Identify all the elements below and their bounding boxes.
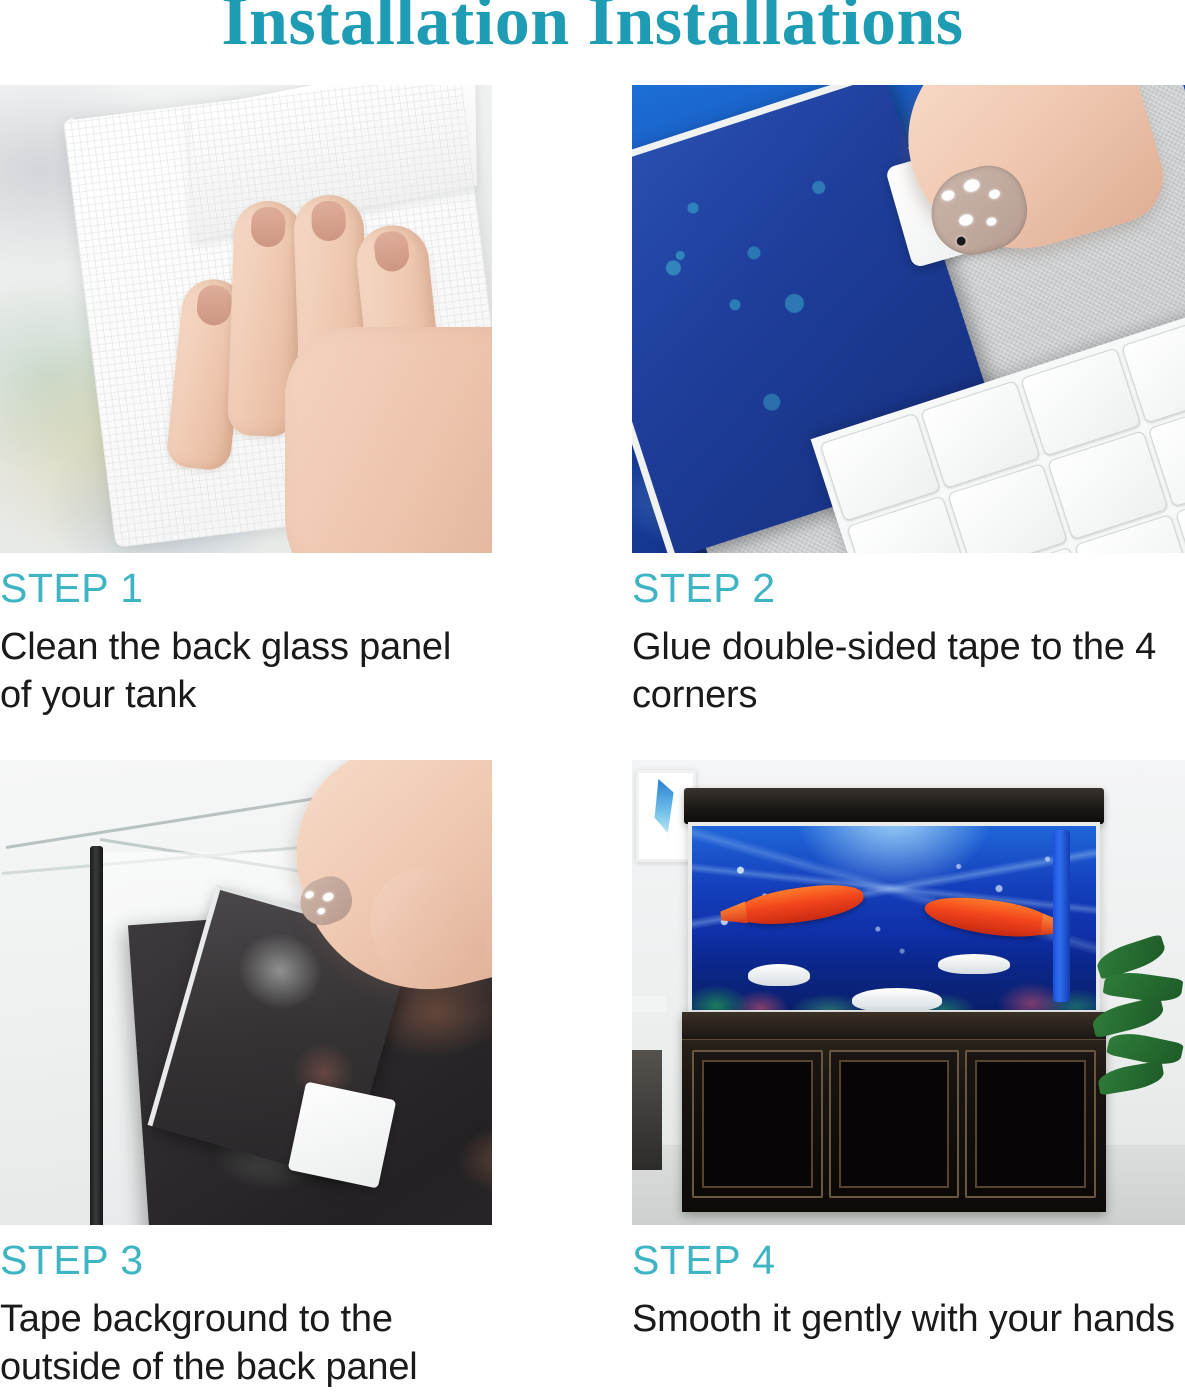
nail-glitter [987,188,1000,200]
cabinet-door [829,1050,960,1198]
cabinet-doors [692,1050,1096,1198]
tank-corner-trim [90,846,103,1225]
door-inset-panel [702,1060,813,1188]
rock [748,964,810,986]
nail-glitter [304,890,315,900]
step-4-text: Smooth it gently with your hands [632,1296,1185,1344]
nail-glitter [316,907,326,915]
step-card-4: STEP 4 Smooth it gently with your hands [632,760,1185,1344]
nail-glitter [322,891,335,902]
page-title-wrapper: Installation Installations [0,0,1185,60]
fingernail [251,206,286,247]
fingernail [373,230,411,273]
step-2-caption: STEP 2 Glue double-sided tape to the 4 c… [632,553,1185,719]
rock [938,954,1010,974]
nail-glitter [957,213,973,227]
step-card-3: STEP 3 Tape background to the outside of… [0,760,492,1391]
palm [285,327,492,553]
fingernail [311,200,346,241]
adhesive-pad [288,1081,397,1188]
step-3-text: Tape background to the outside of the ba… [0,1296,492,1391]
step-3-caption: STEP 3 Tape background to the outside of… [0,1225,492,1391]
nail-glitter [940,189,955,202]
house-plant [1090,940,1185,1120]
installation-guide-page: Installation Installations [0,0,1185,1398]
plant-leaf [1096,1060,1165,1095]
step-1-text: Clean the back glass panel of your tank [0,624,492,719]
cabinet-door [965,1050,1096,1198]
step-4-photo [632,760,1185,1225]
step-2-label: STEP 2 [632,567,1185,610]
nail-glitter [985,216,997,226]
side-furniture [632,1050,662,1170]
step-4-label: STEP 4 [632,1239,1185,1282]
nail-gem [955,236,966,247]
door-inset-panel [975,1060,1086,1188]
step-1-caption: STEP 1 Clean the back glass panel of you… [0,553,492,719]
coral-texture [632,126,838,382]
step-3-label: STEP 3 [0,1239,492,1282]
aquarium-tank [688,822,1100,1014]
door-inset-panel [839,1060,950,1188]
side-shelf [632,996,666,1012]
step-2-text: Glue double-sided tape to the 4 corners [632,624,1185,719]
cabinet-top-trim [682,1012,1106,1040]
tank-rim [6,796,323,849]
plant-leaf [1090,996,1166,1039]
step-4-caption: STEP 4 Smooth it gently with your hands [632,1225,1185,1344]
step-1-photo [0,85,492,553]
step-2-photo [632,85,1185,553]
step-3-photo [0,760,492,1225]
aquarium-hood [684,788,1104,824]
rock [852,988,942,1012]
step-card-2: STEP 2 Glue double-sided tape to the 4 c… [632,85,1185,719]
blue-filter-tube [1053,830,1070,1002]
steps-grid: STEP 1 Clean the back glass panel of you… [0,0,1185,1398]
fingernail [195,284,233,327]
cabinet-door [692,1050,823,1198]
page-title: Installation Installations [0,0,1185,60]
hand [165,177,492,553]
step-1-label: STEP 1 [0,567,492,610]
step-card-1: STEP 1 Clean the back glass panel of you… [0,85,492,719]
nail-glitter [962,178,981,194]
aquarium-cabinet-stand [682,1012,1106,1212]
